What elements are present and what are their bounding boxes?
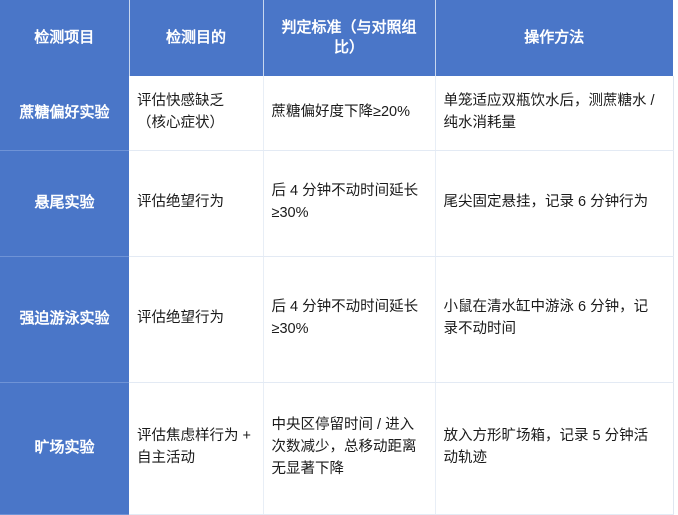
cell-item: 蔗糖偏好实验	[0, 76, 129, 150]
table-header: 检测项目 检测目的 判定标准（与对照组比） 操作方法	[0, 0, 673, 76]
column-header-item: 检测项目	[0, 0, 129, 76]
cell-purpose: 评估绝望行为	[129, 256, 263, 382]
cell-item: 悬尾实验	[0, 150, 129, 256]
table-row: 蔗糖偏好实验 评估快感缺乏（核心症状） 蔗糖偏好度下降≥20% 单笼适应双瓶饮水…	[0, 76, 673, 150]
cell-item: 旷场实验	[0, 382, 129, 514]
cell-criteria: 蔗糖偏好度下降≥20%	[263, 76, 435, 150]
cell-purpose: 评估快感缺乏（核心症状）	[129, 76, 263, 150]
cell-purpose: 评估焦虑样行为 + 自主活动	[129, 382, 263, 514]
detection-table: 检测项目 检测目的 判定标准（与对照组比） 操作方法 蔗糖偏好实验 评估快感缺乏…	[0, 0, 674, 515]
table-row: 悬尾实验 评估绝望行为 后 4 分钟不动时间延长≥30% 尾尖固定悬挂，记录 6…	[0, 150, 673, 256]
cell-criteria: 后 4 分钟不动时间延长≥30%	[263, 256, 435, 382]
cell-item: 强迫游泳实验	[0, 256, 129, 382]
cell-method: 单笼适应双瓶饮水后，测蔗糖水 / 纯水消耗量	[435, 76, 673, 150]
cell-method: 小鼠在清水缸中游泳 6 分钟，记录不动时间	[435, 256, 673, 382]
detection-table-container: 检测项目 检测目的 判定标准（与对照组比） 操作方法 蔗糖偏好实验 评估快感缺乏…	[0, 0, 678, 496]
column-header-method: 操作方法	[435, 0, 673, 76]
cell-method: 放入方形旷场箱，记录 5 分钟活动轨迹	[435, 382, 673, 514]
column-header-purpose: 检测目的	[129, 0, 263, 76]
table-row: 旷场实验 评估焦虑样行为 + 自主活动 中央区停留时间 / 进入次数减少，总移动…	[0, 382, 673, 514]
cell-criteria: 中央区停留时间 / 进入次数减少，总移动距离无显著下降	[263, 382, 435, 514]
table-header-row: 检测项目 检测目的 判定标准（与对照组比） 操作方法	[0, 0, 673, 76]
table-body: 蔗糖偏好实验 评估快感缺乏（核心症状） 蔗糖偏好度下降≥20% 单笼适应双瓶饮水…	[0, 76, 673, 514]
column-header-criteria: 判定标准（与对照组比）	[263, 0, 435, 76]
table-row: 强迫游泳实验 评估绝望行为 后 4 分钟不动时间延长≥30% 小鼠在清水缸中游泳…	[0, 256, 673, 382]
cell-method: 尾尖固定悬挂，记录 6 分钟行为	[435, 150, 673, 256]
cell-criteria: 后 4 分钟不动时间延长≥30%	[263, 150, 435, 256]
cell-purpose: 评估绝望行为	[129, 150, 263, 256]
